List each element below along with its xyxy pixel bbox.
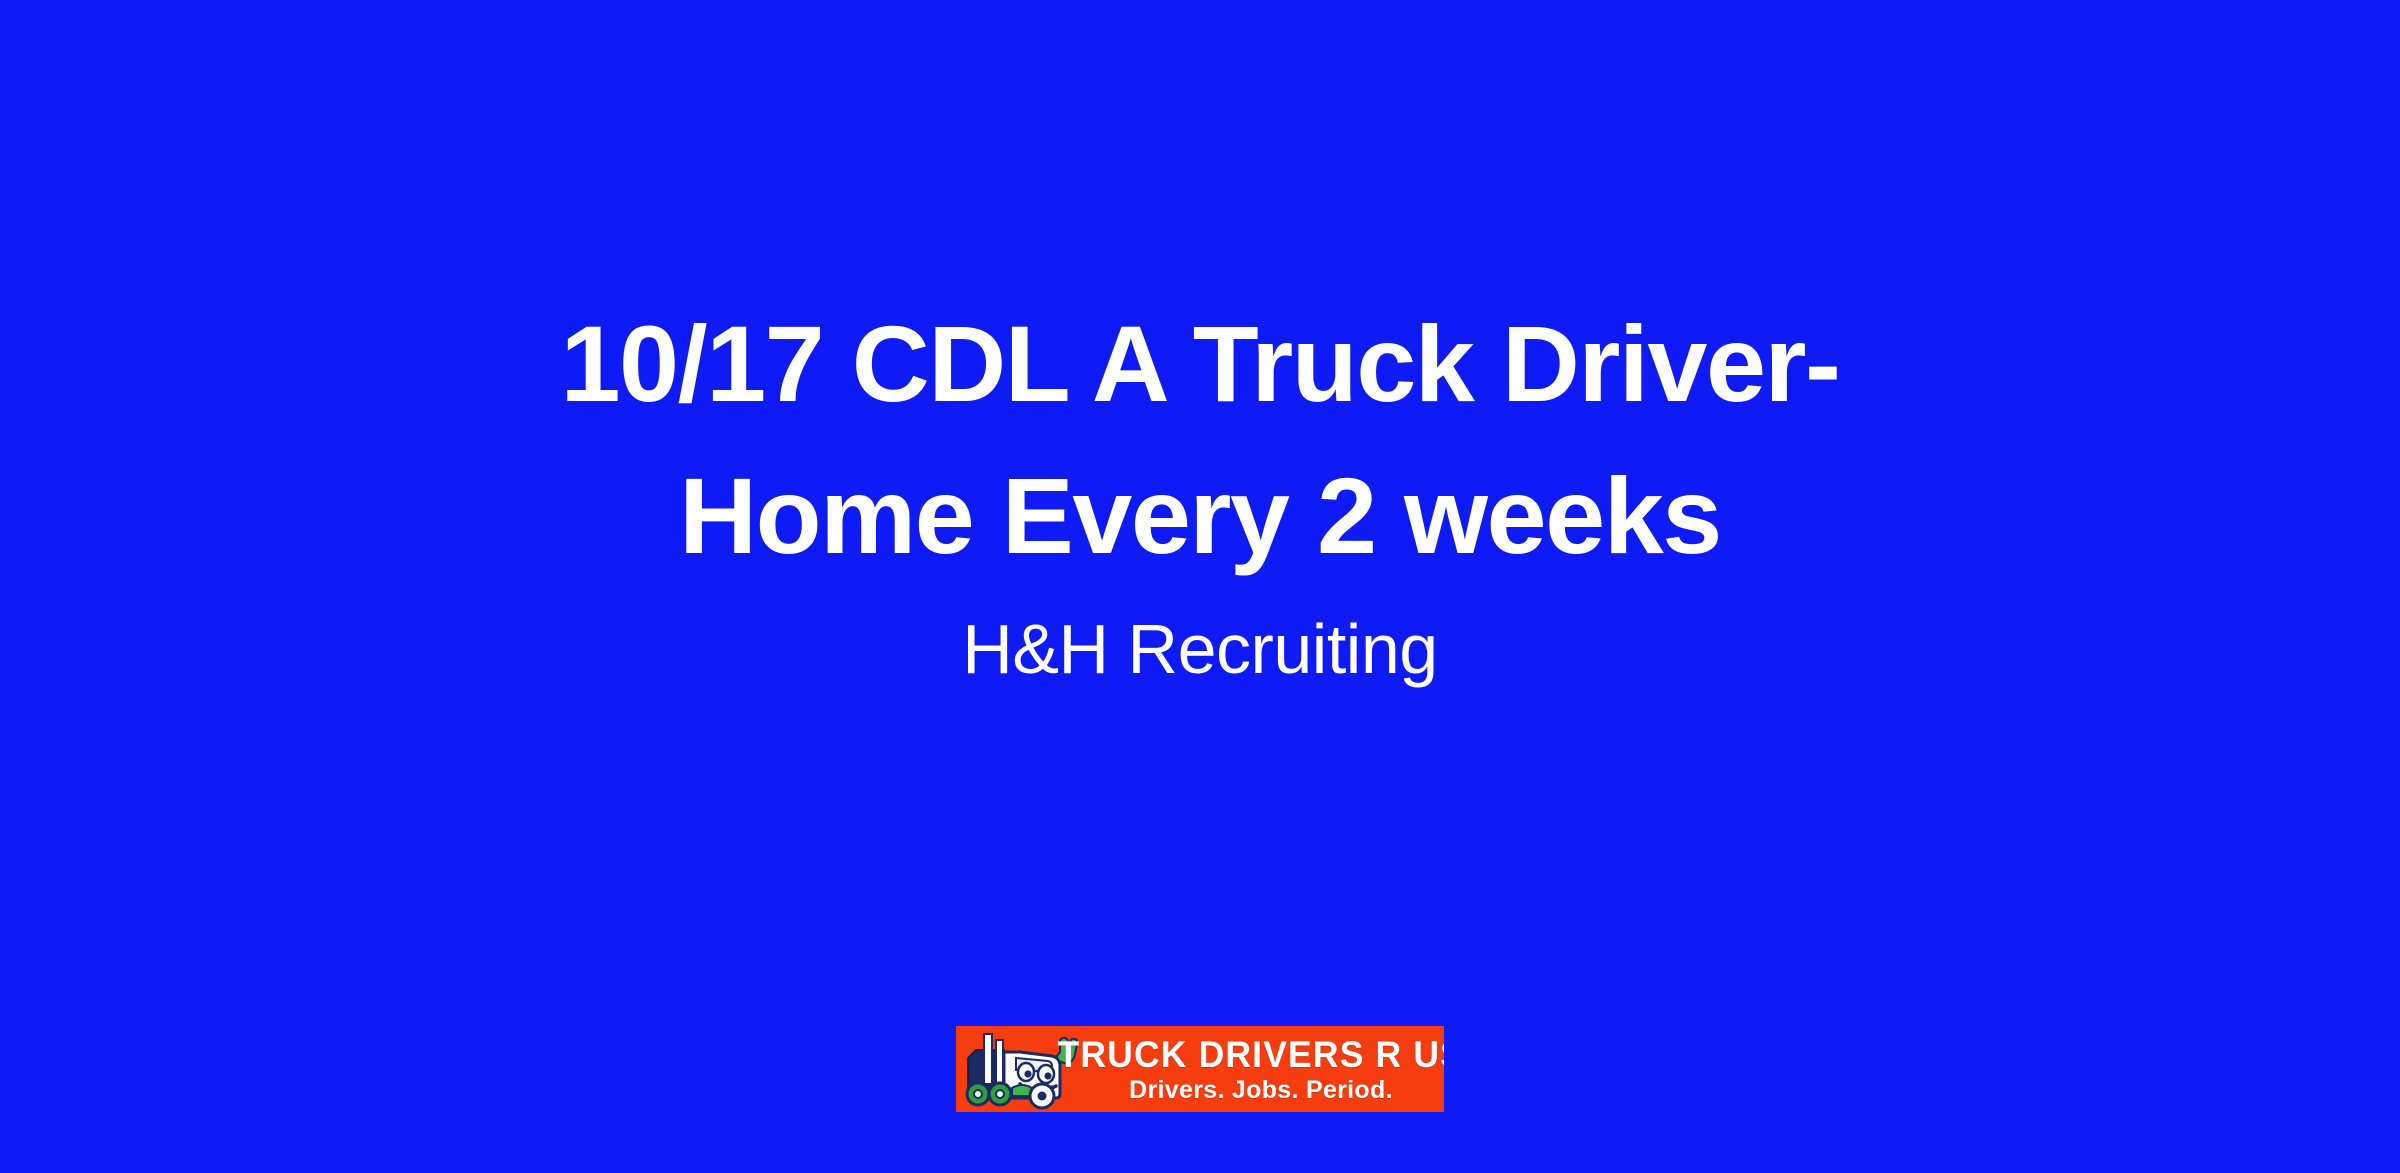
logo-tagline: Drivers. Jobs. Period. — [1129, 1076, 1393, 1104]
logo-banner: TRUCK DRIVERS R US Drivers. Jobs. Period… — [956, 1026, 1444, 1112]
logo-text-column: TRUCK DRIVERS R US Drivers. Jobs. Period… — [1084, 1026, 1438, 1112]
company-logo[interactable]: TRUCK DRIVERS R US Drivers. Jobs. Period… — [956, 1026, 1444, 1112]
company-name: H&H Recruiting — [0, 606, 2400, 692]
page-title: 10/17 CDL A Truck Driver- Home Every 2 w… — [0, 288, 2400, 592]
headline-block: 10/17 CDL A Truck Driver- Home Every 2 w… — [0, 288, 2400, 692]
logo-title: TRUCK DRIVERS R US — [1057, 1035, 1444, 1075]
job-posting-poster: 10/17 CDL A Truck Driver- Home Every 2 w… — [0, 0, 2400, 1173]
